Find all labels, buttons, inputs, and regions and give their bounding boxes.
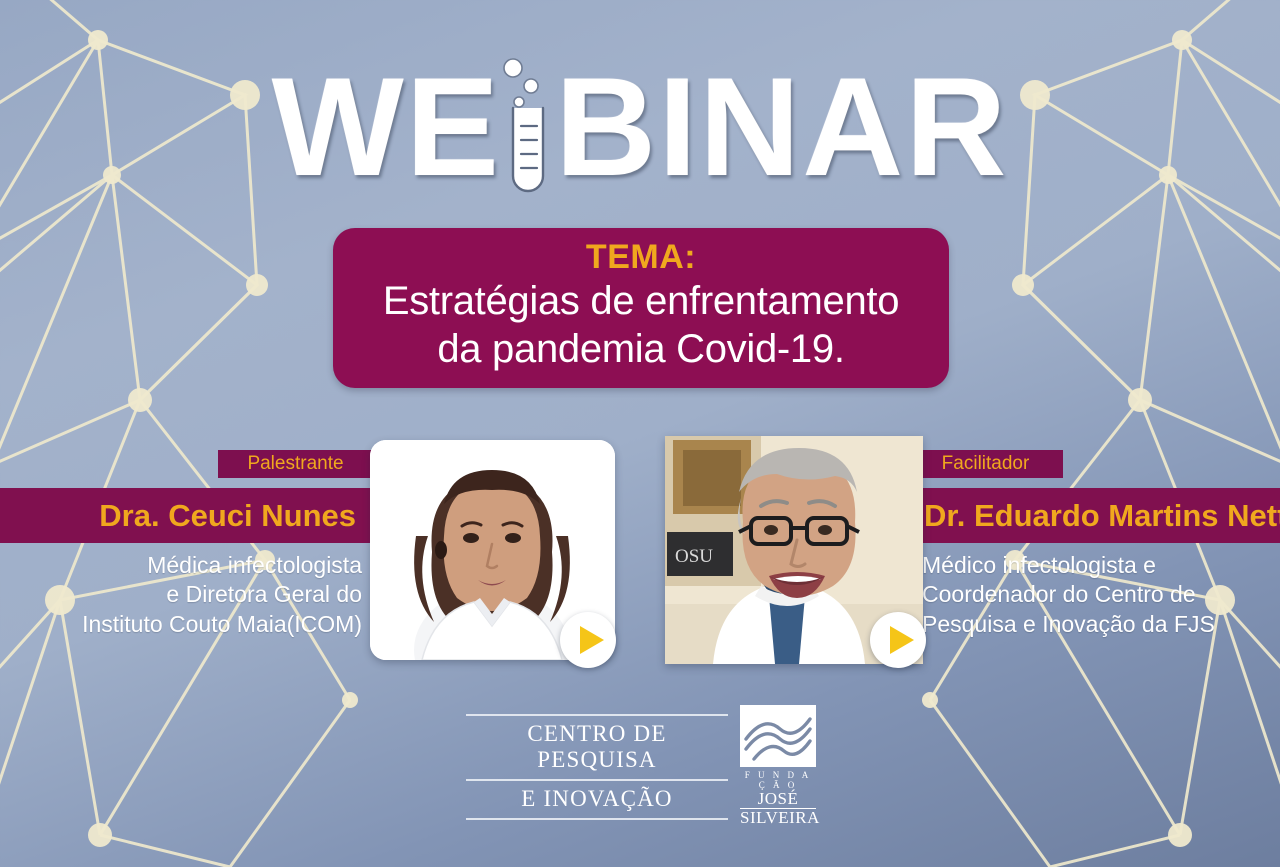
webinar-title: WE BINAR [0, 52, 1280, 202]
rule-bottom [466, 818, 728, 820]
play-button-left[interactable] [560, 612, 616, 668]
play-triangle-icon [890, 626, 914, 654]
theme-line-1: Estratégias de enfrentamento [383, 279, 899, 324]
speaker-name-left: Dra. Ceuci Nunes [99, 498, 356, 534]
centro-pesquisa-wordmark: CENTRO DE PESQUISA E INOVAÇÃO [466, 714, 728, 820]
speaker-role-left-line-1: Médica infectologista [0, 551, 362, 580]
speaker-role-left: Médica infectologista e Diretora Geral d… [0, 551, 368, 639]
fundacao-word: F U N D A Ç Ã O [740, 767, 816, 790]
fundacao-text-block: F U N D A Ç Ã O JOSÉ SILVEIRA [740, 767, 816, 828]
footer-logo: CENTRO DE PESQUISA E INOVAÇÃO F U N D A … [466, 714, 816, 819]
footer-line-2: E INOVAÇÃO [466, 781, 728, 818]
speaker-name-bar-right: Dr. Eduardo Martins Netto [905, 488, 1280, 543]
speaker-role-left-line-2: e Diretora Geral do [0, 580, 362, 609]
play-triangle-icon [580, 626, 604, 654]
title-part-2: BINAR [555, 57, 1008, 197]
rule-middle [466, 779, 728, 781]
speaker-name-right: Dr. Eduardo Martins Netto [924, 498, 1280, 534]
speaker-role-right: Médico infectologista e Coordenador do C… [912, 551, 1280, 639]
play-button-right[interactable] [870, 612, 926, 668]
theme-line-2: da pandemia Covid-19. [437, 327, 844, 372]
rule-top [466, 714, 728, 716]
theme-banner: TEMA: Estratégias de enfrentamento da pa… [333, 228, 949, 388]
theme-label: TEMA: [586, 238, 696, 277]
speaker-badge-facilitador: Facilitador [908, 450, 1063, 478]
fundacao-jose-silveira-logo: F U N D A Ç Ã O JOSÉ SILVEIRA [740, 705, 816, 828]
test-tube-icon [491, 52, 561, 202]
speaker-role-left-line-3: Instituto Couto Maia(ICOM) [0, 610, 362, 639]
wave-mark-icon [740, 705, 816, 767]
speaker-role-right-line-1: Médico infectologista e [922, 551, 1280, 580]
speaker-badge-palestrante: Palestrante [218, 450, 373, 478]
svg-text:OSU: OSU [675, 546, 713, 567]
speaker-name-bar-left: Dra. Ceuci Nunes [0, 488, 375, 543]
footer-line-1: CENTRO DE PESQUISA [466, 716, 728, 779]
title-part-1: WE [272, 57, 502, 197]
speaker-role-right-line-3: Pesquisa e Inovação da FJS [922, 610, 1280, 639]
silveira-word: SILVEIRA [740, 809, 816, 828]
jose-word: JOSÉ [740, 790, 816, 809]
speaker-role-right-line-2: Coordenador do Centro de [922, 580, 1280, 609]
